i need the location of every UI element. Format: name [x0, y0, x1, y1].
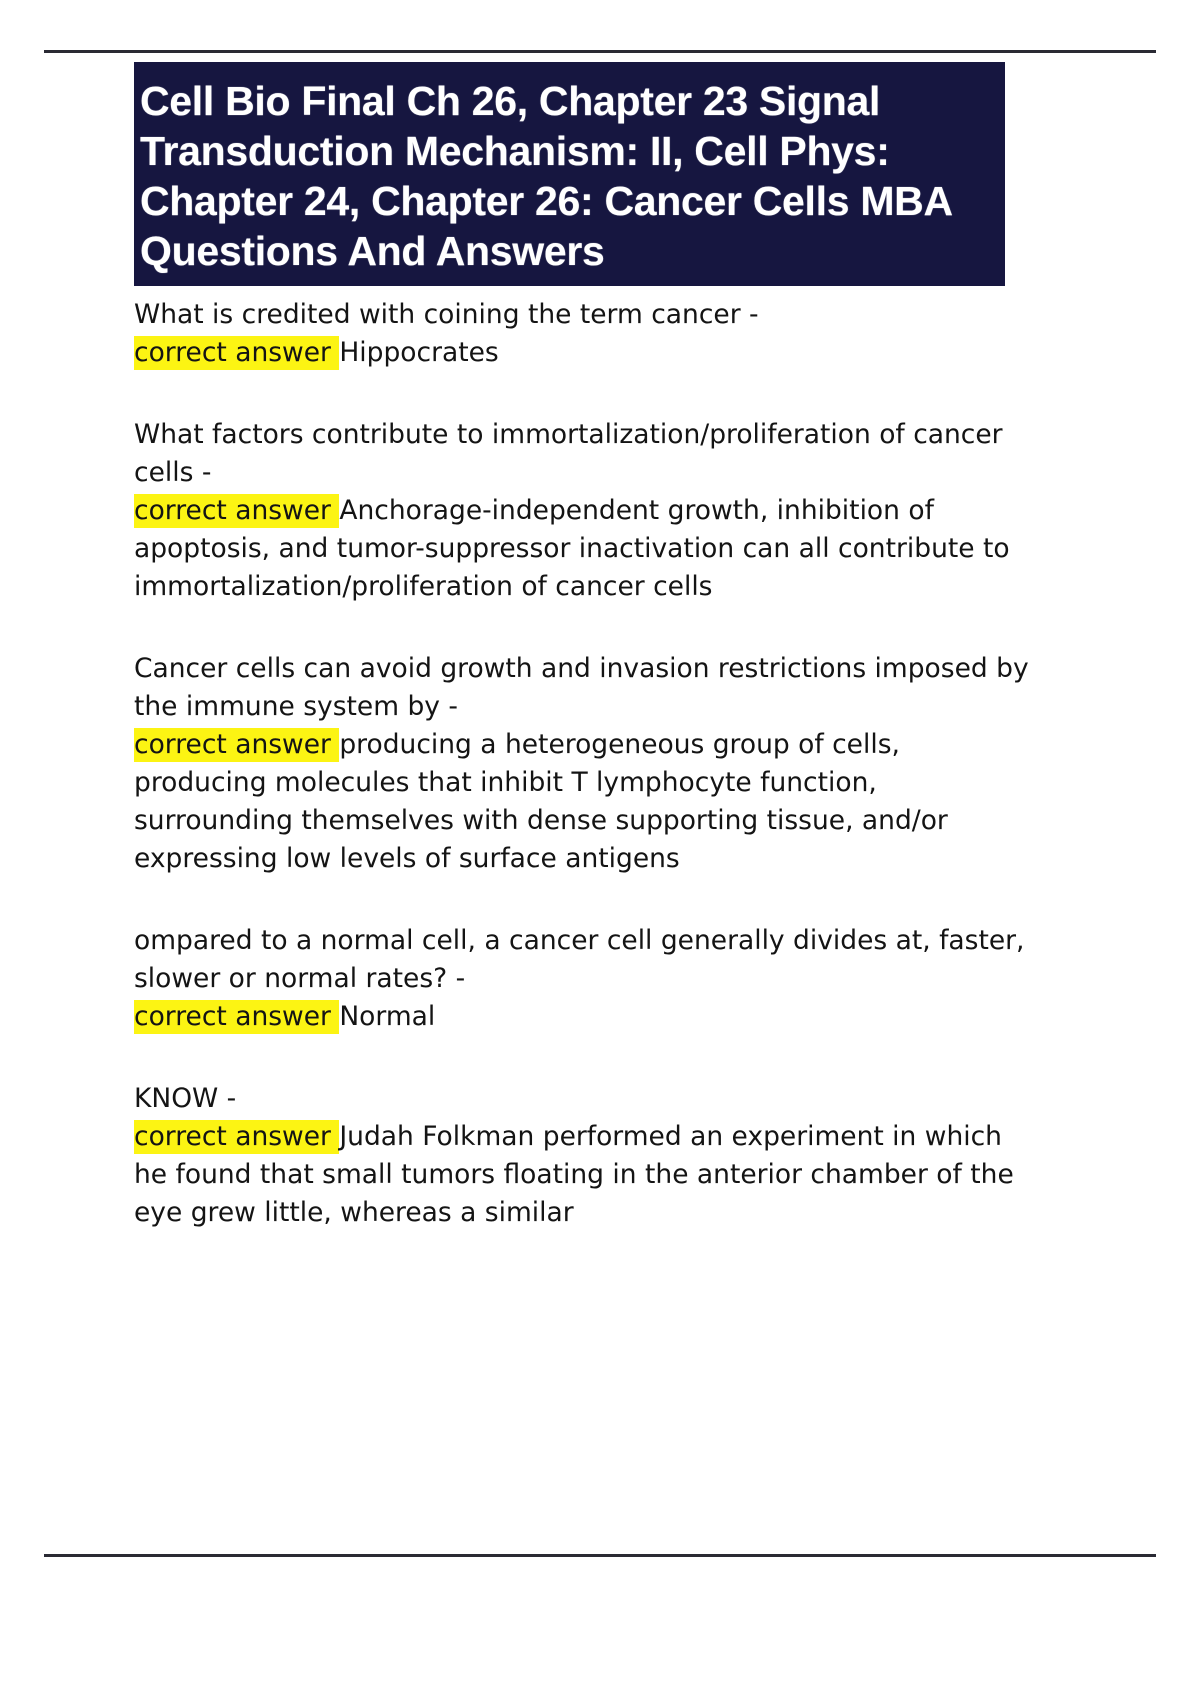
- correct-answer-label: correct answer: [134, 1000, 339, 1034]
- question-text: What factors contribute to immortalizati…: [134, 416, 1039, 492]
- question-text: ompared to a normal cell, a cancer cell …: [134, 922, 1039, 998]
- correct-answer-label: correct answer: [134, 494, 339, 528]
- question-text: What is credited with coining the term c…: [134, 296, 1039, 334]
- qa-block: What is credited with coining the term c…: [134, 296, 1039, 372]
- correct-answer-label: correct answer: [134, 1120, 339, 1154]
- answer-text: correct answer Normal: [134, 998, 1039, 1036]
- question-text: Cancer cells can avoid growth and invasi…: [134, 650, 1039, 726]
- answer-text: correct answer Anchorage-independent gro…: [134, 492, 1039, 606]
- document-page: Cell Bio Final Ch 26, Chapter 23 Signal …: [0, 0, 1200, 1700]
- answer-text: correct answer Hippocrates: [134, 334, 1039, 372]
- qa-block: What factors contribute to immortalizati…: [134, 416, 1039, 606]
- qa-block: KNOW - correct answer Judah Folkman perf…: [134, 1080, 1039, 1232]
- answer-text: correct answer producing a heterogeneous…: [134, 726, 1039, 878]
- page-title: Cell Bio Final Ch 26, Chapter 23 Signal …: [138, 76, 1005, 276]
- qa-block: ompared to a normal cell, a cancer cell …: [134, 922, 1039, 1036]
- answer-value: Hippocrates: [339, 337, 498, 368]
- correct-answer-label: correct answer: [134, 728, 339, 762]
- answer-value: Normal: [339, 1001, 435, 1032]
- document-title-banner: Cell Bio Final Ch 26, Chapter 23 Signal …: [134, 62, 1005, 286]
- page-top-rule: [44, 50, 1156, 53]
- correct-answer-label: correct answer: [134, 336, 339, 370]
- page-bottom-rule: [44, 1554, 1156, 1557]
- question-text: KNOW -: [134, 1080, 1039, 1118]
- document-content: Cell Bio Final Ch 26, Chapter 23 Signal …: [134, 62, 1039, 1232]
- qa-block: Cancer cells can avoid growth and invasi…: [134, 650, 1039, 878]
- answer-text: correct answer Judah Folkman performed a…: [134, 1118, 1039, 1232]
